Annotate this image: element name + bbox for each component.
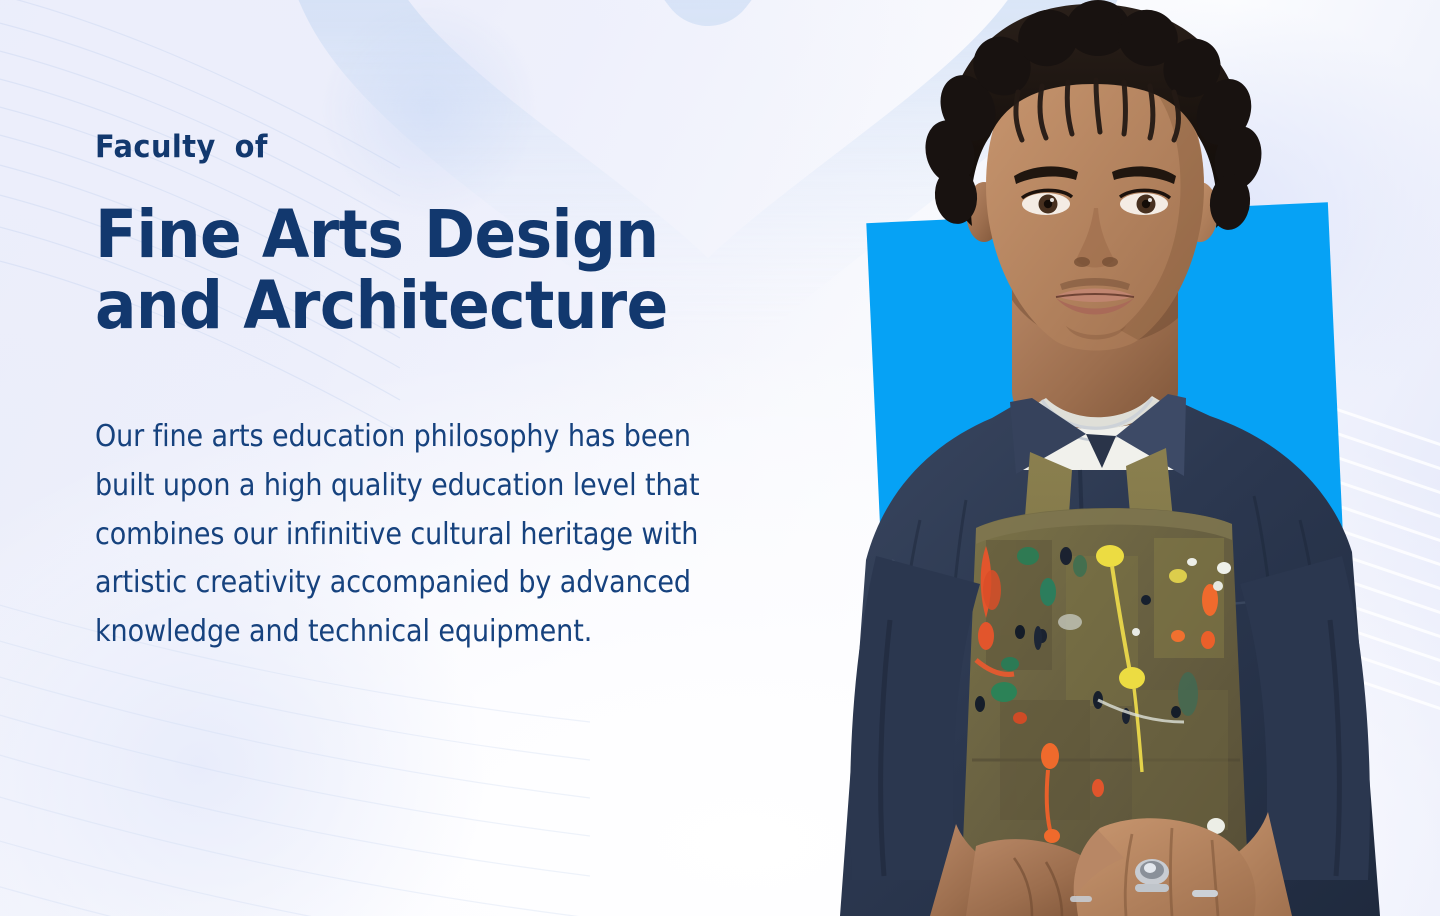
- photo-block: [780, 0, 1440, 916]
- page-title: Fine Arts Design and Architecture: [95, 200, 774, 341]
- faculty-eyebrow: Faculty of: [95, 130, 774, 164]
- faculty-promo-banner: Faculty of Fine Arts Design and Architec…: [0, 0, 1440, 916]
- text-column: Faculty of Fine Arts Design and Architec…: [95, 130, 825, 656]
- art-student-portrait: [780, 0, 1440, 916]
- description-paragraph: Our fine arts education philosophy has b…: [95, 413, 725, 656]
